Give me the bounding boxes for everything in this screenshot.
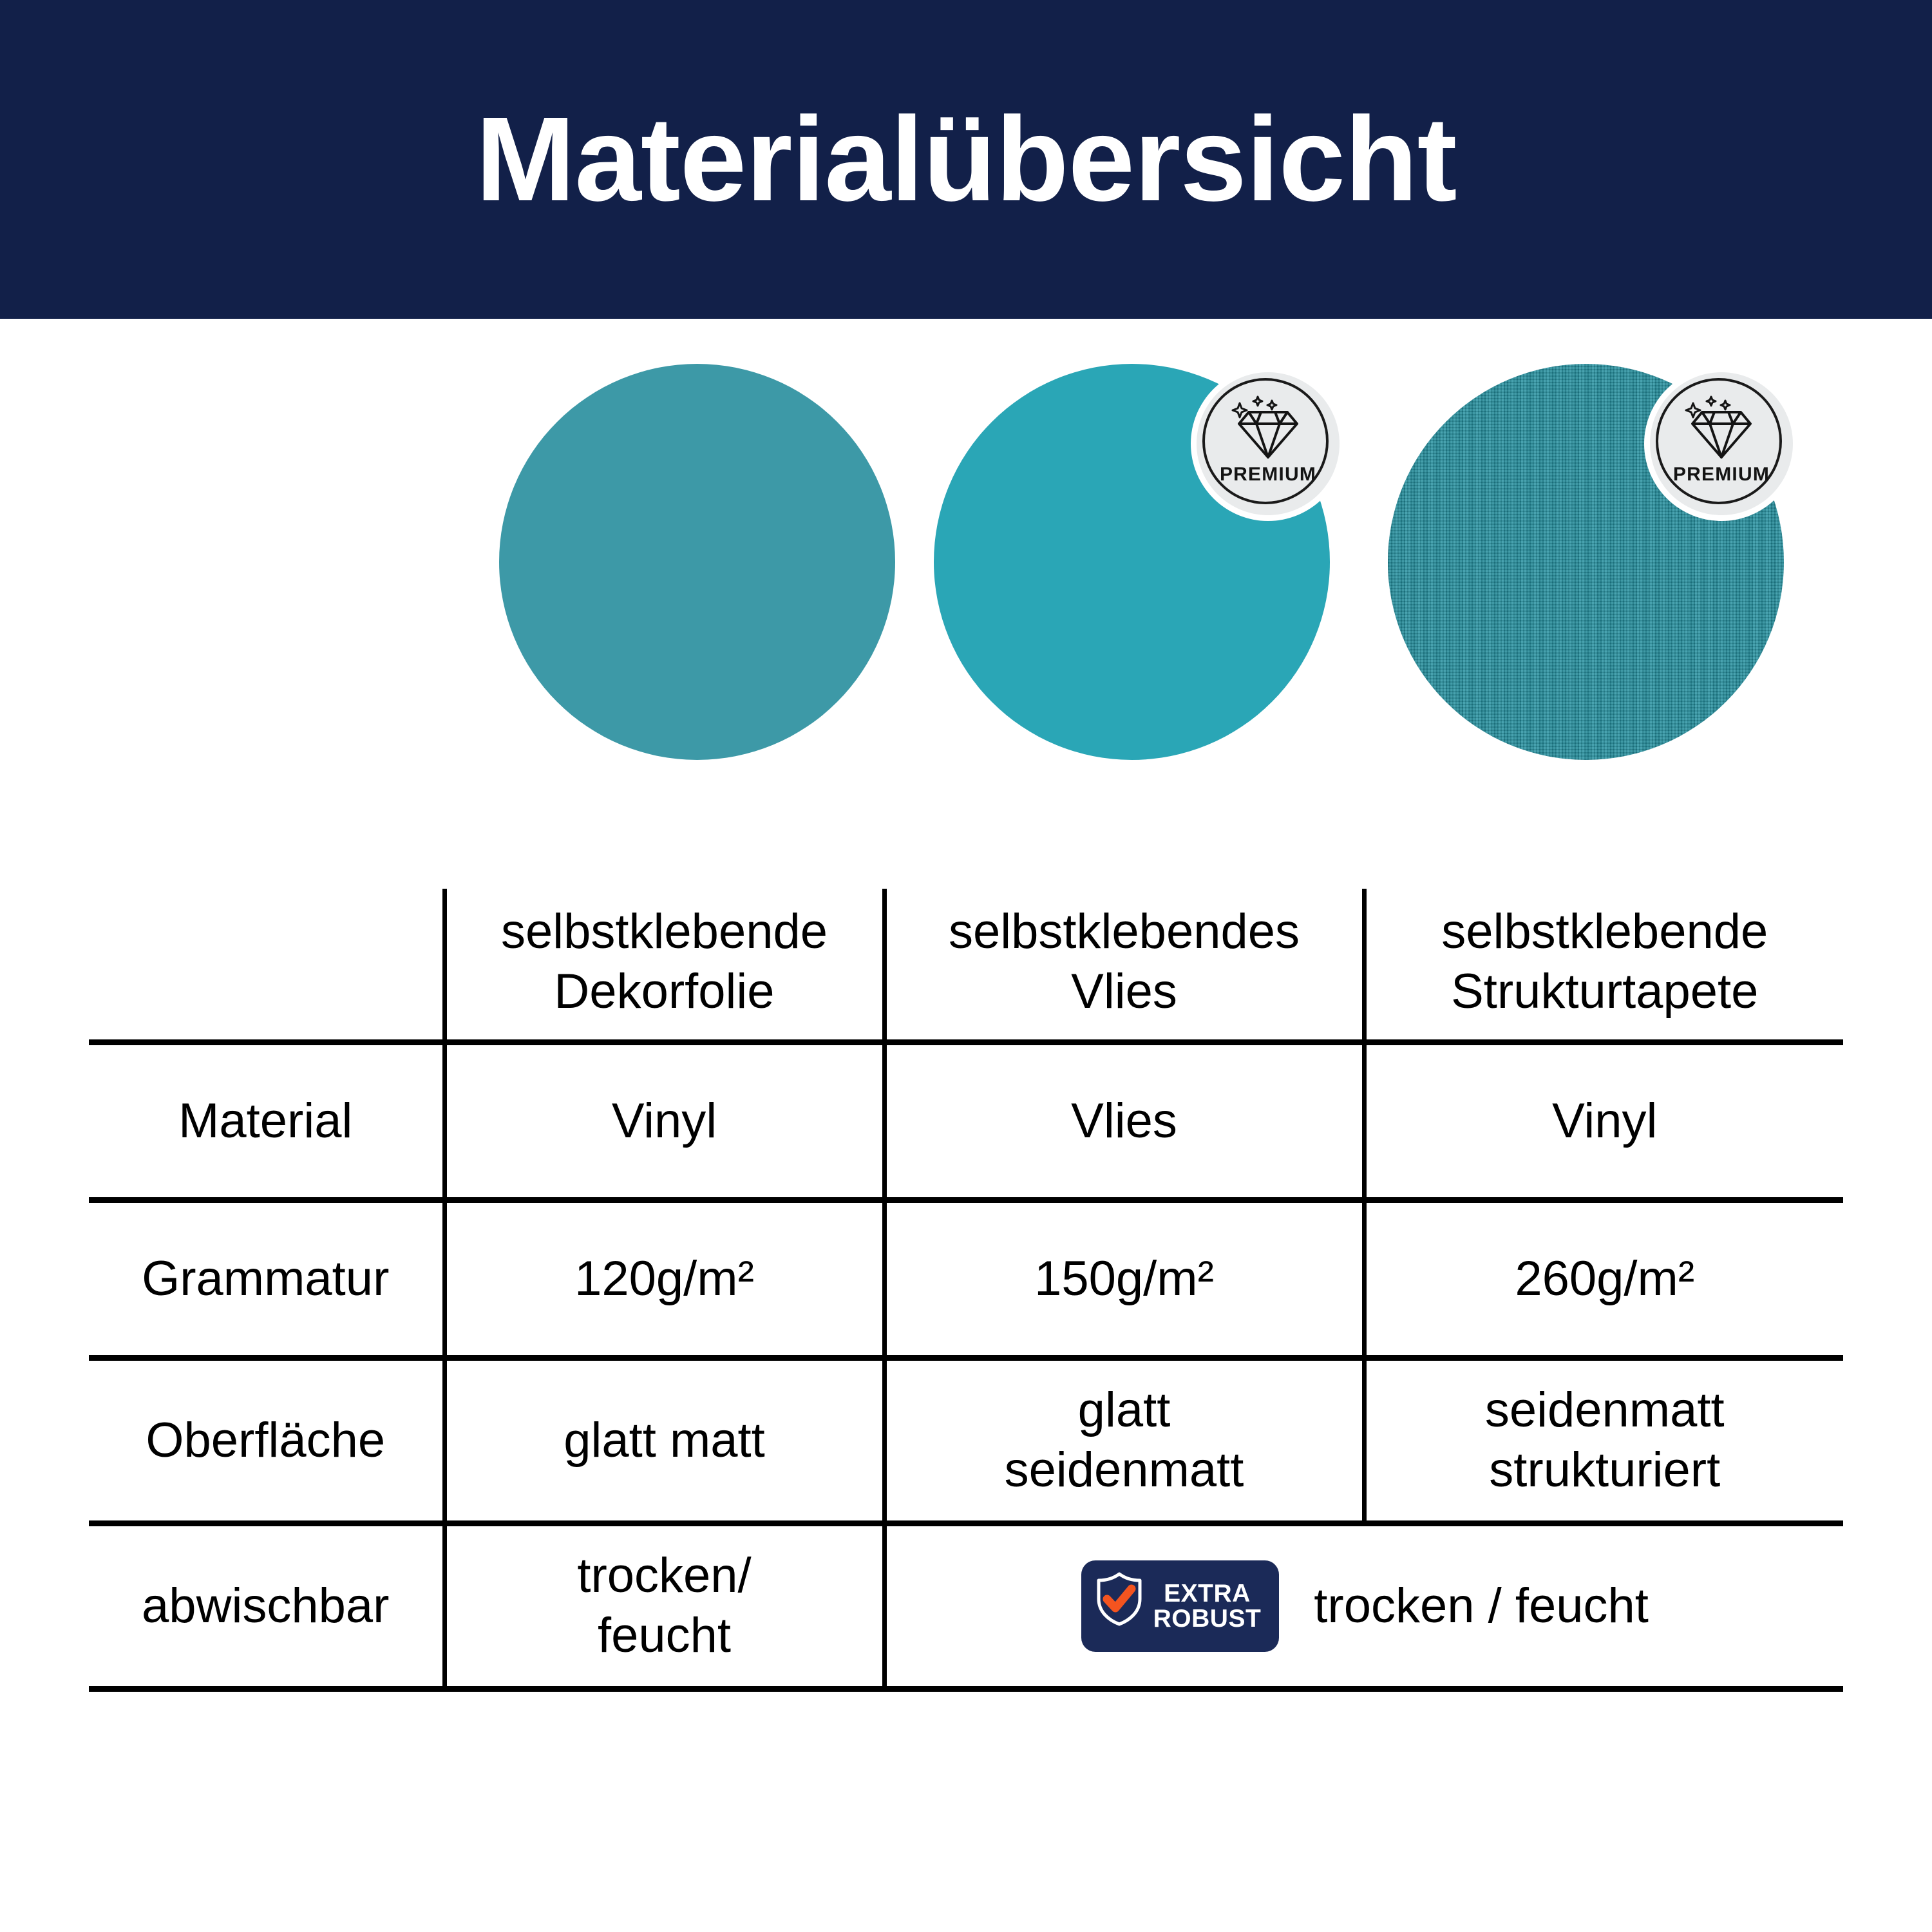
table-row-oberflaeche: Oberfläche glatt matt glatt seidenmatt s… <box>89 1358 1843 1524</box>
table-header-row: selbstklebende Dekorfolie selbstklebende… <box>89 889 1843 1043</box>
page-header: Materialübersicht <box>0 0 1932 319</box>
material-spec-table: selbstklebende Dekorfolie selbstklebende… <box>89 889 1843 1692</box>
row-label-oberflaeche: Oberfläche <box>89 1358 444 1524</box>
cell-oberflaeche-vlies: glatt seidenmatt <box>884 1358 1364 1524</box>
table-row-grammatur: Grammatur 120g/m² 150g/m² 260g/m² <box>89 1200 1843 1358</box>
cell-oberflaeche-dekorfolie: glatt matt <box>444 1358 884 1524</box>
column-header-strukturtapete: selbstklebende Strukturtapete <box>1364 889 1843 1043</box>
shield-check-icon <box>1095 1572 1143 1640</box>
cell-material-dekorfolie: Vinyl <box>444 1043 884 1200</box>
page-title: Materialübersicht <box>475 100 1456 220</box>
row-label-abwischbar: abwischbar <box>89 1524 444 1689</box>
cell-grammatur-dekorfolie: 120g/m² <box>444 1200 884 1358</box>
material-spec-table-wrap: selbstklebende Dekorfolie selbstklebende… <box>89 889 1843 1692</box>
diamond-icon <box>1683 393 1760 464</box>
column-header-dekorfolie: selbstklebende Dekorfolie <box>444 889 884 1043</box>
table-row-abwischbar: abwischbar trocken/ feucht <box>89 1524 1843 1689</box>
premium-badge-label: PREMIUM <box>1197 464 1340 486</box>
cell-abwischbar-vlies-strukturtapete: EXTRA ROBUST trocken / feucht <box>884 1524 1843 1689</box>
premium-badge-vlies: PREMIUM <box>1197 372 1340 515</box>
extra-robust-line1: EXTRA <box>1153 1581 1262 1606</box>
dekorfolie-swatch <box>499 364 895 760</box>
column-header-vlies: selbstklebendes Vlies <box>884 889 1364 1043</box>
cell-material-vlies: Vlies <box>884 1043 1364 1200</box>
diamond-icon <box>1229 393 1307 464</box>
table-corner-cell <box>89 889 444 1043</box>
cell-grammatur-strukturtapete: 260g/m² <box>1364 1200 1843 1358</box>
cell-abwischbar-value: trocken / feucht <box>1314 1577 1649 1636</box>
material-overview-page: Materialübersicht PREMI <box>0 0 1932 1932</box>
table-row-material: Material Vinyl Vlies Vinyl <box>89 1043 1843 1200</box>
premium-badge-strukturtapete: PREMIUM <box>1650 372 1793 515</box>
row-label-grammatur: Grammatur <box>89 1200 444 1358</box>
cell-grammatur-vlies: 150g/m² <box>884 1200 1364 1358</box>
cell-abwischbar-dekorfolie: trocken/ feucht <box>444 1524 884 1689</box>
extra-robust-line2: ROBUST <box>1153 1606 1262 1631</box>
cell-oberflaeche-strukturtapete: seidenmatt strukturiert <box>1364 1358 1843 1524</box>
cell-material-strukturtapete: Vinyl <box>1364 1043 1843 1200</box>
extra-robust-badge: EXTRA ROBUST <box>1081 1560 1280 1652</box>
row-label-material: Material <box>89 1043 444 1200</box>
premium-badge-label: PREMIUM <box>1650 464 1793 486</box>
